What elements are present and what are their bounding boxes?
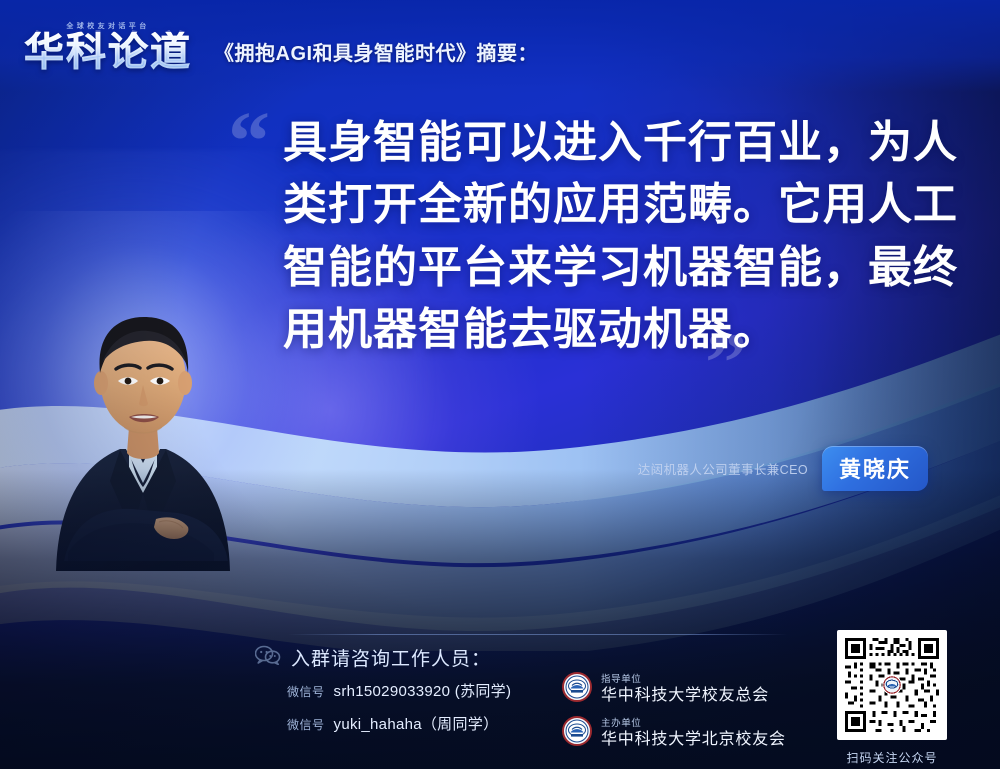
organization-row: 主办单位 华中科技大学北京校友会 <box>562 716 786 751</box>
contact-row: 微信号 srh15029033920 (苏同学) <box>287 680 585 701</box>
organizations-section: 指导单位 华中科技大学校友总会 主办单位 华中科技大学北京校友会 <box>562 672 786 760</box>
footer-divider <box>288 634 788 635</box>
brand-logo[interactable]: 全球校友对话平台 华科论道 <box>24 21 192 72</box>
qr-code-icon[interactable] <box>837 630 947 740</box>
header-bar: 全球校友对话平台 华科论道 《拥抱AGI和具身智能时代》摘要： <box>0 0 1000 92</box>
quote-line: 具身智能可以进入千行百业，为人 <box>283 112 943 174</box>
quote-line: 用机器智能去驱动机器。 <box>283 299 943 361</box>
qr-caption: 扫码关注公众号 <box>833 749 951 766</box>
contact-row: 微信号 yuki_hahaha（周同学） <box>287 713 585 734</box>
contact-value[interactable]: yuki_hahaha（周同学） <box>334 713 499 734</box>
wechat-icon <box>255 645 281 670</box>
attribution: 达闼机器人公司董事长兼CEO 黄晓庆 <box>638 446 928 491</box>
quote-close-mark: ” <box>705 322 747 406</box>
organization-name: 华中科技大学校友总会 <box>601 688 769 704</box>
quote-line: 智能的平台来学习机器智能，最终 <box>283 237 943 299</box>
organization-kind: 主办单位 <box>601 719 786 729</box>
poster-root: 全球校友对话平台 华科论道 《拥抱AGI和具身智能时代》摘要： “ 具身智能可以… <box>0 0 1000 769</box>
contact-heading: 入群请咨询工作人员： <box>291 644 491 671</box>
quote-open-mark: “ <box>228 100 270 184</box>
quote-block: 具身智能可以进入千行百业，为人 类打开全新的应用范畴。它用人工 智能的平台来学习… <box>283 112 943 362</box>
page-title: 《拥抱AGI和具身智能时代》摘要： <box>214 27 538 66</box>
contact-label: 微信号 <box>287 716 325 733</box>
logo-wordmark: 华科论道 <box>24 32 192 72</box>
organization-text: 主办单位 华中科技大学北京校友会 <box>601 719 786 748</box>
organization-text: 指导单位 华中科技大学校友总会 <box>601 675 769 704</box>
contact-label: 微信号 <box>287 683 325 700</box>
speaker-name-badge: 黄晓庆 <box>822 446 928 491</box>
university-emblem-icon <box>562 672 592 707</box>
organization-kind: 指导单位 <box>601 675 769 685</box>
organization-row: 指导单位 华中科技大学校友总会 <box>562 672 786 707</box>
contact-heading-row: 入群请咨询工作人员： <box>255 644 585 671</box>
university-emblem-icon <box>562 716 592 751</box>
qr-section: 扫码关注公众号 <box>833 630 951 766</box>
quote-line: 类打开全新的应用范畴。它用人工 <box>283 174 943 236</box>
speaker-role: 达闼机器人公司董事长兼CEO <box>638 459 808 478</box>
logo-tagline: 全球校友对话平台 <box>66 21 149 31</box>
organization-name: 华中科技大学北京校友会 <box>601 732 786 748</box>
contact-value[interactable]: srh15029033920 (苏同学) <box>334 680 512 701</box>
contact-section: 入群请咨询工作人员： 微信号 srh15029033920 (苏同学) 微信号 … <box>255 644 585 746</box>
